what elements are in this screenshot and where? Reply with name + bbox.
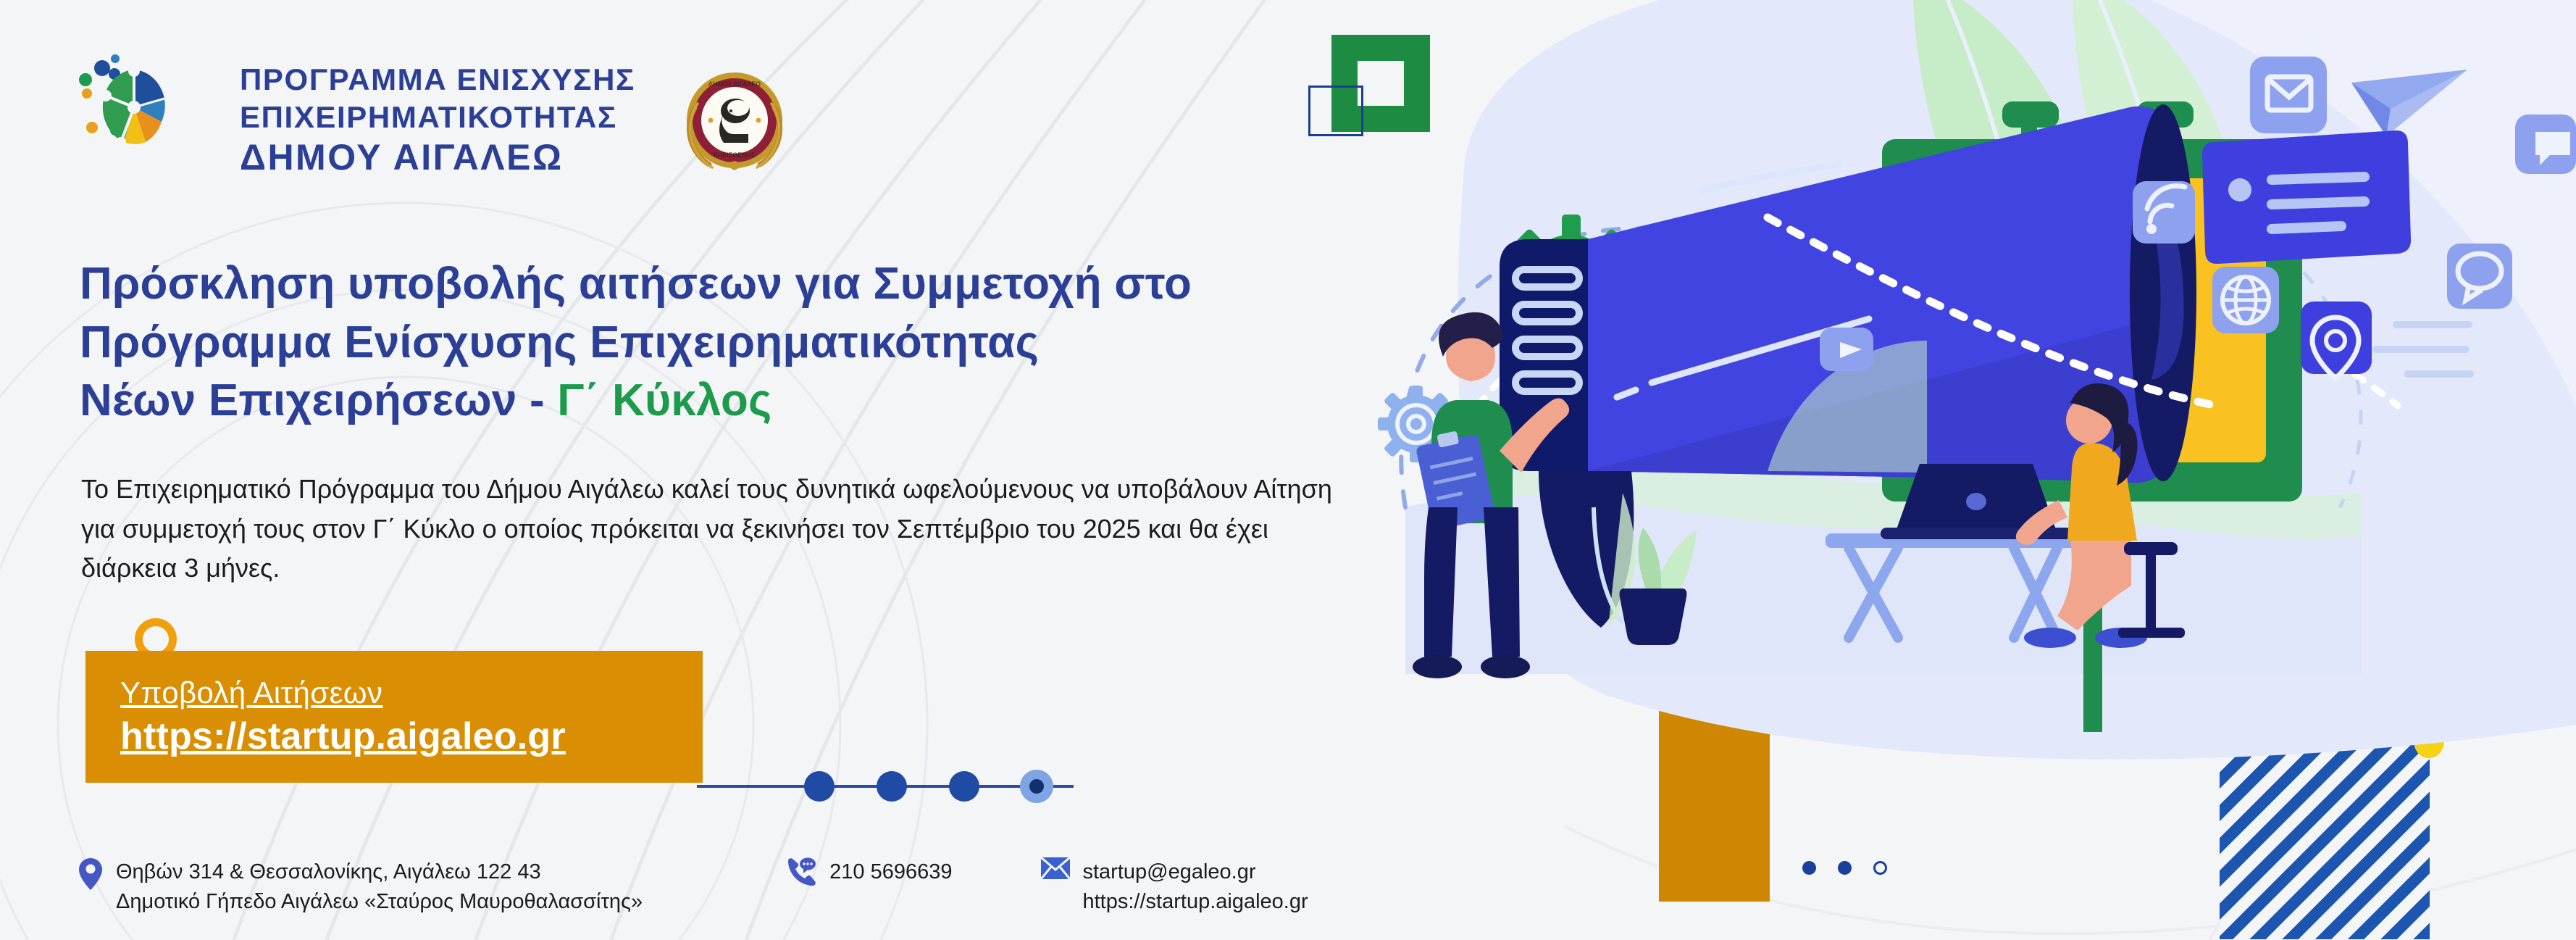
contact-address: Θηβών 314 & Θεσσαλονίκης, Αιγάλεω 122 43… <box>78 857 643 917</box>
municipality-seal-icon: ΔΗΜΟΣ ΑΙΓΑΛΕΩ ΚΛΕΙΣΘΕΝΗΣ <box>680 66 789 175</box>
logo-line-1: ΠΡΟΓΡΑΜΜΑ ΕΝΙΣΧΥΣΗΣ <box>240 61 635 98</box>
email-website[interactable]: https://startup.aigaleo.gr <box>1083 887 1308 917</box>
address-line-1: Θηβών 314 & Θεσσαλονίκης, Αιγάλεω 122 43 <box>116 857 643 887</box>
page-title: Πρόσκληση υποβολής αιτήσεων για Συμμετοχ… <box>80 255 1192 431</box>
logo-line-2: ΕΠΙΧΕΙΡΗΜΑΤΙΚΟΤΗΤΑΣ <box>240 99 635 136</box>
hero-illustration <box>1362 0 2576 940</box>
title-line-2: Πρόγραμμα Ενίσχυσης Επιχειρηματικότητας <box>80 314 1192 373</box>
timeline-step-1[interactable] <box>804 771 835 802</box>
contact-email: startup@egaleo.gr https://startup.aigale… <box>1041 857 1308 917</box>
seal-bottom-text: ΚΛΕΙΣΘΕΝΗΣ <box>714 151 756 159</box>
wifi-signal-icon <box>2133 181 2195 244</box>
description-paragraph: Το Επιχειρηματικό Πρόγραμμα του Δήμου Αι… <box>81 470 1371 588</box>
chat-bubble-icon <box>2515 115 2576 174</box>
globe-icon <box>2212 267 2279 333</box>
timeline-step-3[interactable] <box>949 771 979 802</box>
promo-banner: ΠΡΟΓΡΑΜΜΑ ΕΝΙΣΧΥΣΗΣ ΕΠΙΧΕΙΡΗΜΑΤΙΚΟΤΗΤΑΣ … <box>0 0 2576 940</box>
title-line-3-prefix: Νέων Επιχειρήσεων - <box>80 375 557 425</box>
contact-bar: Θηβών 314 & Θεσσαλονίκης, Αιγάλεω 122 43… <box>78 857 1308 917</box>
address-line-2: Δημοτικό Γήπεδο Αιγάλεω «Σταύρος Μαυροθα… <box>116 887 643 917</box>
message-card-icon <box>2202 130 2411 264</box>
phone-chat-icon <box>786 857 816 886</box>
envelope-icon <box>1041 857 1070 879</box>
email-text: startup@egaleo.gr https://startup.aigale… <box>1083 857 1308 917</box>
timeline-step-2[interactable] <box>877 771 907 802</box>
email-address[interactable]: startup@egaleo.gr <box>1083 857 1308 887</box>
title-line-1: Πρόσκληση υποβολής αιτήσεων για Συμμετοχ… <box>80 255 1192 314</box>
logo-line-3: ΔΗΜΟΥ ΑΙΓΑΛΕΩ <box>240 136 635 180</box>
apply-cta-button[interactable]: Υποβολή Αιτήσεων https://startup.aigaleo… <box>85 651 703 783</box>
progress-timeline <box>697 765 1081 809</box>
logo-dot <box>94 60 110 76</box>
blue-square-outline <box>1308 86 1363 136</box>
logo-wordmark: ΠΡΟΓΡΑΜΜΑ ΕΝΙΣΧΥΣΗΣ ΕΠΙΧΕΙΡΗΜΑΤΙΚΟΤΗΤΑΣ … <box>240 61 635 179</box>
contact-phone: 210 5696639 <box>786 857 952 887</box>
title-line-3: Νέων Επιχειρήσεων - Γ΄ Κύκλος <box>80 372 1192 431</box>
phone-text: 210 5696639 <box>829 857 952 887</box>
envelope-card-icon <box>2250 57 2327 133</box>
title-cycle-highlight: Γ΄ Κύκλος <box>557 375 771 425</box>
play-button-icon <box>1820 328 1873 371</box>
cta-url: https://startup.aigaleo.gr <box>120 715 703 758</box>
network-sphere-logo <box>69 45 219 196</box>
logo-row: ΠΡΟΓΡΑΜΜΑ ΕΝΙΣΧΥΣΗΣ ΕΠΙΧΕΙΡΗΜΑΤΙΚΟΤΗΤΑΣ … <box>69 45 789 196</box>
cta-label: Υποβολή Αιτήσεων <box>120 675 703 710</box>
location-pin-card-icon <box>2301 301 2372 378</box>
address-text: Θηβών 314 & Θεσσαλονίκης, Αιγάλεω 122 43… <box>116 857 643 917</box>
seal-top-text: ΔΗΜΟΣ ΑΙΓΑΛΕΩ <box>708 80 761 88</box>
speech-bubble-icon <box>2447 244 2512 309</box>
timeline-step-4-active[interactable] <box>1020 770 1053 803</box>
location-pin-icon <box>78 857 103 891</box>
